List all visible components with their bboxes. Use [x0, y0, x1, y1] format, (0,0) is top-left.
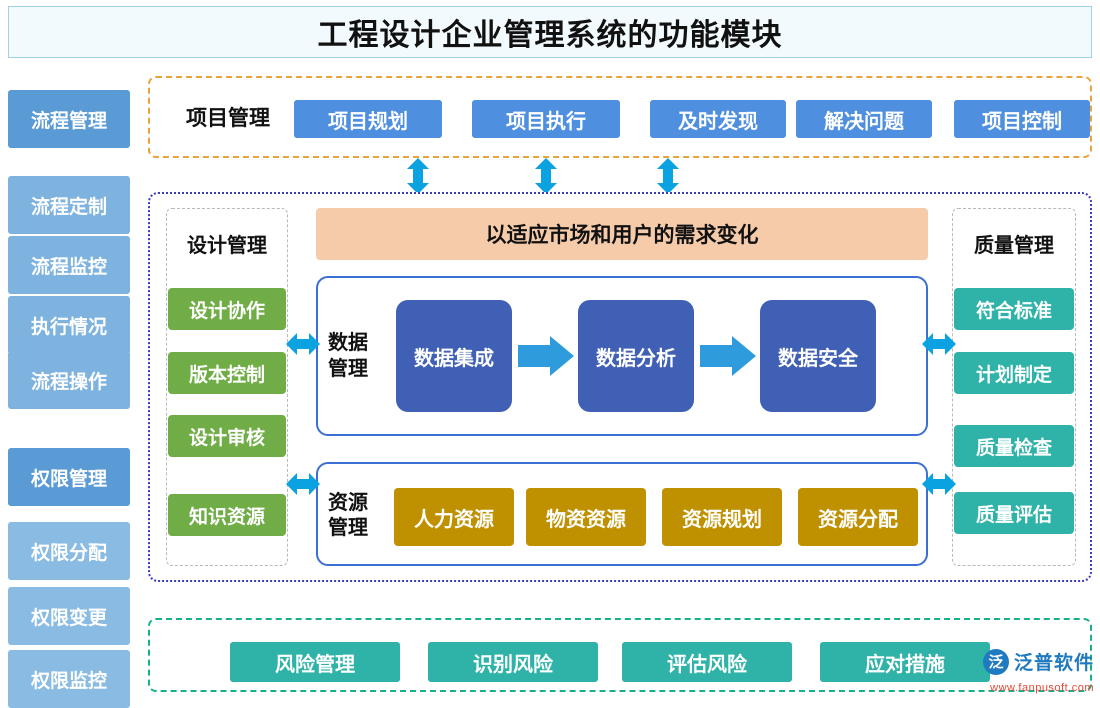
data-node-integration[interactable]: 数据集成 — [396, 300, 512, 412]
risk-button-assess-risk[interactable]: 评估风险 — [622, 642, 792, 682]
flow-button-project-control[interactable]: 项目控制 — [954, 100, 1090, 138]
flow-button-project-planning[interactable]: 项目规划 — [294, 100, 442, 138]
resource-node-material[interactable]: 物资资源 — [526, 488, 646, 546]
sidebar-item-process-customize[interactable]: 流程定制 — [8, 176, 130, 234]
design-item-knowledge-resource[interactable]: 知识资源 — [168, 494, 286, 536]
flow-button-solve-problem[interactable]: 解决问题 — [796, 100, 932, 138]
flow-button-project-execution[interactable]: 项目执行 — [472, 100, 620, 138]
quality-item-quality-evaluation[interactable]: 质量评估 — [954, 492, 1074, 534]
design-item-version-control[interactable]: 版本控制 — [168, 352, 286, 394]
quality-item-quality-inspection[interactable]: 质量检查 — [954, 425, 1074, 467]
risk-button-risk-management[interactable]: 风险管理 — [230, 642, 400, 682]
project-flow-container — [148, 76, 1092, 158]
quality-management-title: 质量管理 — [952, 226, 1076, 260]
double-arrow-vertical-icon — [650, 158, 686, 194]
resource-node-planning[interactable]: 资源规划 — [662, 488, 782, 546]
page-title: 工程设计企业管理系统的功能模块 — [8, 6, 1092, 58]
project-management-label: 项目管理 — [168, 100, 288, 134]
design-item-design-review[interactable]: 设计审核 — [168, 415, 286, 457]
sidebar-item-permission-assign[interactable]: 权限分配 — [8, 522, 130, 580]
sidebar-item-execution-status[interactable]: 执行情况 — [8, 296, 130, 354]
company-logo-icon: 泛 — [983, 649, 1009, 675]
sidebar-item-process-monitor[interactable]: 流程监控 — [8, 236, 130, 294]
flow-button-timely-discovery[interactable]: 及时发现 — [650, 100, 786, 138]
resource-node-human[interactable]: 人力资源 — [394, 488, 514, 546]
double-arrow-vertical-icon — [400, 158, 436, 194]
sidebar-item-permission-change[interactable]: 权限变更 — [8, 587, 130, 645]
sidebar-item-process-operation[interactable]: 流程操作 — [8, 351, 130, 409]
double-arrow-vertical-icon — [528, 158, 564, 194]
company-name: 泛普软件 — [1014, 648, 1094, 675]
resource-management-label: 资源管理 — [326, 482, 370, 550]
resource-node-allocation[interactable]: 资源分配 — [798, 488, 918, 546]
data-management-label: 数据管理 — [326, 300, 370, 412]
sidebar-item-permission-management[interactable]: 权限管理 — [8, 448, 130, 506]
quality-item-meets-standard[interactable]: 符合标准 — [954, 288, 1074, 330]
design-management-title: 设计管理 — [166, 226, 288, 260]
company-url: www.fanpusoft.com — [990, 682, 1094, 694]
market-adaptation-banner: 以适应市场和用户的需求变化 — [316, 208, 928, 260]
watermark: 泛 泛普软件 www.fanpusoft.com — [944, 648, 1094, 696]
risk-button-identify-risk[interactable]: 识别风险 — [428, 642, 598, 682]
data-node-security[interactable]: 数据安全 — [760, 300, 876, 412]
sidebar-item-permission-monitor[interactable]: 权限监控 — [8, 650, 130, 708]
design-item-collaboration[interactable]: 设计协作 — [168, 288, 286, 330]
quality-item-plan-making[interactable]: 计划制定 — [954, 352, 1074, 394]
sidebar-item-process-management[interactable]: 流程管理 — [8, 90, 130, 148]
data-node-analysis[interactable]: 数据分析 — [578, 300, 694, 412]
